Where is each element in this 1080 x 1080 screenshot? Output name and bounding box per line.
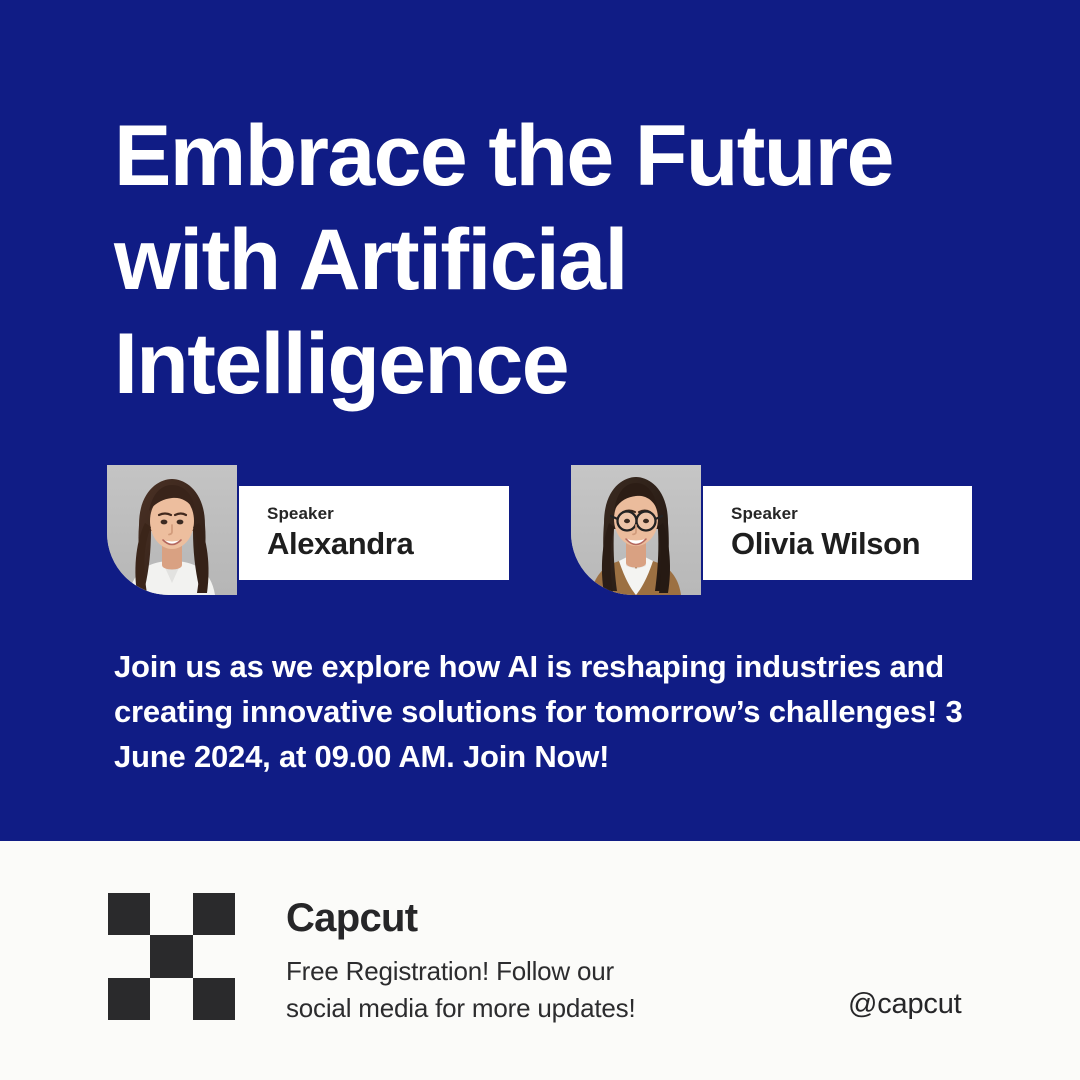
avatar [571, 465, 701, 595]
logo-cell [150, 978, 192, 1020]
logo-cell [193, 935, 235, 977]
speaker-name-plate: Speaker Olivia Wilson [703, 486, 972, 580]
speaker-name: Alexandra [267, 526, 509, 562]
event-description: Join us as we explore how AI is reshapin… [114, 644, 994, 779]
speaker-name: Olivia Wilson [731, 526, 972, 562]
speaker-role-label: Speaker [731, 504, 972, 524]
speaker-card[interactable]: Speaker Olivia Wilson [571, 465, 972, 595]
brand-tagline: Free Registration! Follow our social med… [286, 953, 756, 1027]
speaker-role-label: Speaker [267, 504, 509, 524]
speaker-list: Speaker Alexandra [0, 465, 1080, 595]
avatar [107, 465, 237, 595]
checkerboard-x-logo-icon [108, 893, 235, 1020]
logo-cell [108, 893, 150, 935]
event-poster: Embrace the Future with Artificial Intel… [0, 0, 1080, 1080]
logo-cell [150, 935, 192, 977]
page-title: Embrace the Future with Artificial Intel… [114, 104, 1014, 416]
speaker-name-plate: Speaker Alexandra [239, 486, 509, 580]
logo-cell [108, 935, 150, 977]
speaker-card[interactable]: Speaker Alexandra [107, 465, 509, 595]
logo-cell [193, 893, 235, 935]
social-handle[interactable]: @capcut [848, 987, 961, 1021]
logo-cell [150, 893, 192, 935]
logo-cell [193, 978, 235, 1020]
logo-cell [108, 978, 150, 1020]
brand-name: Capcut [286, 894, 417, 942]
